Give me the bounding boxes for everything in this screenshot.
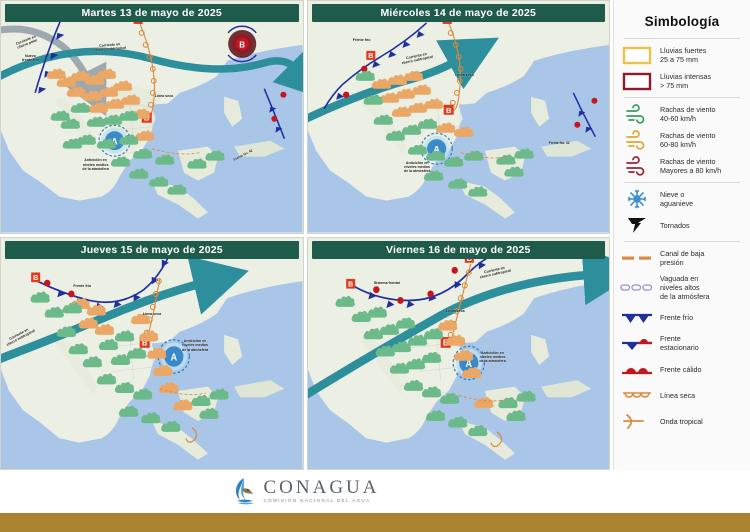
stationary-front-icon (620, 333, 654, 353)
svg-text:B: B (445, 106, 451, 115)
legend-label: Rachas de viento Mayores a 80 km/h (660, 157, 721, 175)
tornado-icon (620, 215, 654, 235)
legend-label: Onda tropical (660, 417, 703, 426)
map-canvas-miercoles: B B B A (308, 1, 610, 233)
bottom-gold-bar (0, 513, 750, 532)
legend-item-upper-trough[interactable]: Vaguada en niveles altos de la atmósfera (620, 274, 744, 301)
wind-gust-amber-icon (620, 130, 654, 150)
legend-divider (624, 182, 740, 183)
legend-label: Lluvias fuertes 25 a 75 mm (660, 46, 706, 64)
panel-title-jueves: Jueves 15 de mayo de 2025 (5, 241, 299, 259)
legend-item-tropical-wave[interactable]: Onda tropical (620, 411, 744, 431)
panel-title-viernes: Viernes 16 de mayo de 2025 (312, 241, 606, 259)
legend-label: Vaguada en niveles altos de la atmósfera (660, 274, 710, 301)
rain-intense-box-icon (620, 71, 654, 91)
conagua-eagle-water-logo-icon (231, 476, 257, 506)
legend-label: Frente estacionario (660, 334, 699, 352)
wind-gust-green-icon (620, 104, 654, 124)
warm-front-icon (620, 359, 654, 379)
snowflake-icon (620, 189, 654, 209)
svg-text:A: A (171, 352, 178, 362)
footer-logo-area: CONAGUA COMISIÓN NACIONAL DEL AGUA (0, 470, 610, 512)
panel-title-miercoles: Miércoles 14 de mayo de 2025 (312, 4, 606, 22)
map-canvas-viernes: B B B A (308, 238, 610, 470)
rain-heavy-box-icon (620, 45, 654, 65)
legend-item-tornado[interactable]: Tornados (620, 215, 744, 235)
cold-front-icon (620, 307, 654, 327)
conagua-subtitle: COMISIÓN NACIONAL DEL AGUA (264, 499, 380, 504)
legend-label: Tornados (660, 221, 690, 230)
legend-panel: Simbología Lluvias fuertes 25 a 75 mm Ll… (613, 0, 750, 470)
legend-item-snow[interactable]: Nieve o aguanieve (620, 189, 744, 209)
legend-item-rain-intense[interactable]: Lluvias intensas > 75 mm (620, 71, 744, 91)
low-pressure-trough-icon (620, 248, 654, 268)
legend-divider (624, 38, 740, 39)
legend-title: Simbología (620, 0, 744, 38)
panel-title-martes: Martes 13 de mayo de 2025 (5, 4, 299, 22)
legend-label: Frente cálido (660, 365, 702, 374)
weather-forecast-page: Martes 13 de mayo de 2025 (0, 0, 750, 532)
legend-label: Lluvias intensas > 75 mm (660, 72, 711, 90)
legend-item-wind-60-80[interactable]: Rachas de viento 60-80 km/h (620, 130, 744, 150)
legend-label: Canal de baja presión (660, 249, 704, 267)
dry-line-icon (620, 385, 654, 405)
conagua-name: CONAGUA (264, 478, 380, 497)
legend-divider (624, 97, 740, 98)
legend-label: Frente frío (660, 313, 693, 322)
legend-item-stationary-front[interactable]: Frente estacionario (620, 333, 744, 353)
legend-item-cold-front[interactable]: Frente frío (620, 307, 744, 327)
legend-divider (624, 241, 740, 242)
forecast-panel-grid: Martes 13 de mayo de 2025 (0, 0, 610, 470)
forecast-panel-miercoles[interactable]: Miércoles 14 de mayo de 2025 (307, 0, 611, 234)
svg-text:B: B (348, 279, 353, 288)
legend-item-low-trough[interactable]: Canal de baja presión (620, 248, 744, 268)
forecast-panel-martes[interactable]: Martes 13 de mayo de 2025 (0, 0, 304, 234)
map-canvas-jueves: B B A (1, 238, 303, 470)
legend-item-wind-40-60[interactable]: Rachas de viento 40-60 km/h (620, 104, 744, 124)
forecast-panel-viernes[interactable]: Viernes 16 de mayo de 2025 (307, 237, 611, 471)
legend-label: Rachas de viento 40-60 km/h (660, 105, 716, 123)
wind-gust-red-icon (620, 156, 654, 176)
svg-text:B: B (239, 40, 245, 49)
legend-item-rain-heavy[interactable]: Lluvias fuertes 25 a 75 mm (620, 45, 744, 65)
legend-label: Rachas de viento 60-80 km/h (660, 131, 716, 149)
legend-item-wind-over-80[interactable]: Rachas de viento Mayores a 80 km/h (620, 156, 744, 176)
svg-text:B: B (368, 53, 373, 60)
legend-item-warm-front[interactable]: Frente cálido (620, 359, 744, 379)
tropical-wave-icon (620, 411, 654, 431)
conagua-wordmark: CONAGUA COMISIÓN NACIONAL DEL AGUA (264, 478, 380, 504)
legend-item-dry-line[interactable]: Línea seca (620, 385, 744, 405)
upper-trough-icon (620, 278, 654, 298)
forecast-panel-jueves[interactable]: Jueves 15 de mayo de 2025 (0, 237, 304, 471)
svg-text:B: B (33, 272, 38, 281)
legend-label: Línea seca (660, 391, 695, 400)
legend-label: Nieve o aguanieve (660, 190, 693, 208)
map-canvas-martes: B B B (1, 1, 303, 233)
